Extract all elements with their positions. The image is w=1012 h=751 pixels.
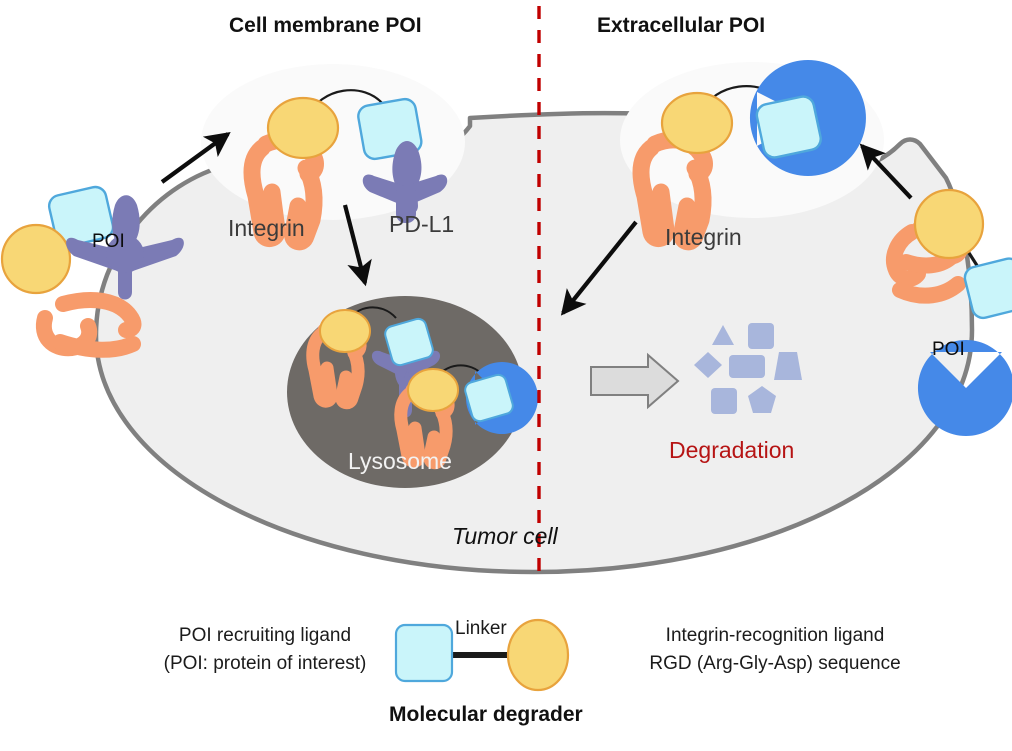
recruiting-ligand-right-bound <box>755 95 823 160</box>
legend-right-line1: Integrin-recognition ligand <box>610 622 940 650</box>
label-poi-right: POI <box>932 339 965 361</box>
rgd-ligand-right-bound <box>662 93 732 153</box>
label-pdl1: PD-L1 <box>389 211 454 237</box>
header-cell-membrane-poi: Cell membrane POI <box>229 14 422 38</box>
legend-left-line1: POI recruiting ligand <box>120 622 410 650</box>
legend-right-line2: RGD (Arg-Gly-Asp) sequence <box>610 650 940 678</box>
label-tumor-cell: Tumor cell <box>452 523 558 549</box>
fragment-rectangle <box>729 355 765 378</box>
rgd-ligand-left-free <box>2 225 70 293</box>
label-integrin-left: Integrin <box>228 215 305 241</box>
legend-title: Molecular degrader <box>389 703 583 727</box>
fragment-square-top <box>748 323 774 349</box>
legend-rgd-ligand-glyph <box>508 620 568 690</box>
label-degradation: Degradation <box>669 437 794 463</box>
label-integrin-right: Integrin <box>665 224 742 250</box>
rgd-ligand-right-free <box>915 190 983 258</box>
poi-extracellular-bound <box>750 60 866 176</box>
label-poi-left: POI <box>92 231 125 253</box>
legend-left-line2: (POI: protein of interest) <box>120 650 410 678</box>
integrin-left-outside <box>44 300 134 350</box>
rgd-ligand-left-bound <box>268 98 338 158</box>
fragment-square-bottom <box>711 388 737 414</box>
label-lysosome: Lysosome <box>348 448 452 474</box>
header-extracellular-poi: Extracellular POI <box>597 14 765 38</box>
legend-linker-label: Linker <box>455 618 507 640</box>
figure-canvas: Cell membrane POI Extracellular POI Inte… <box>0 0 1012 751</box>
